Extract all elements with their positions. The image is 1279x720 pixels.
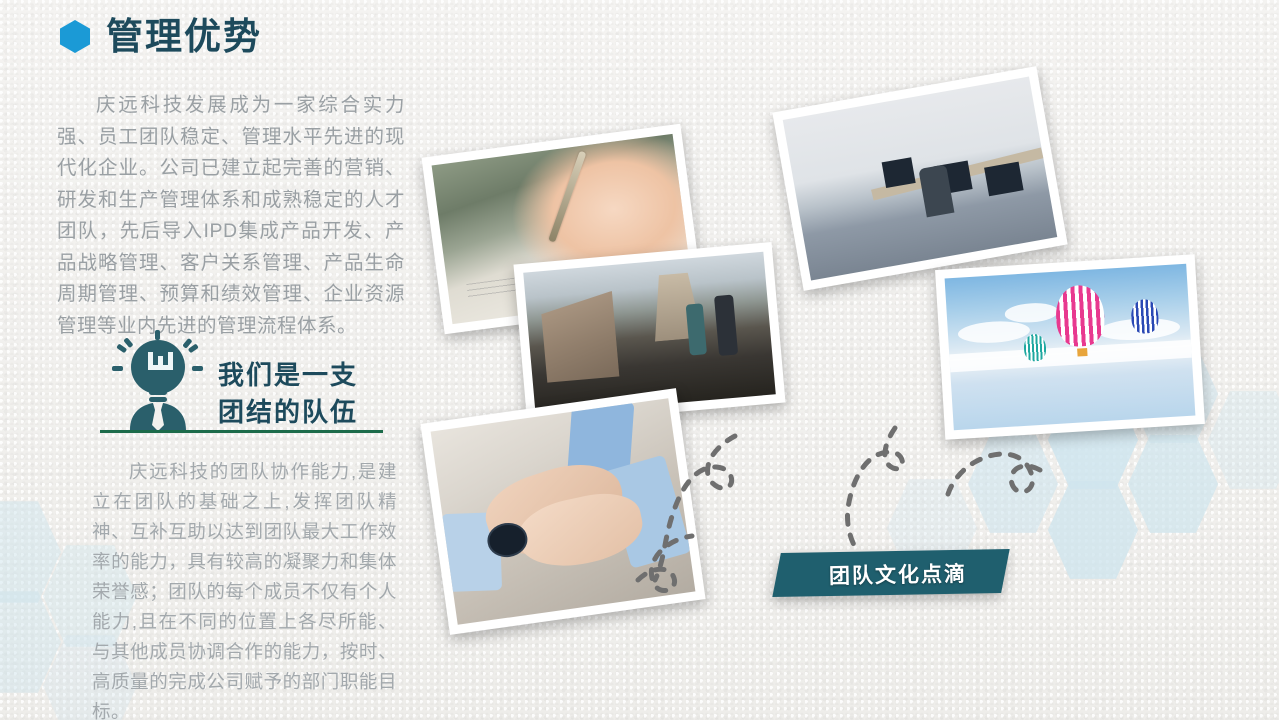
hexagon-shape <box>967 432 1059 536</box>
decor-shape <box>686 303 707 356</box>
culture-banner-label: 团队文化点滴 <box>793 557 1003 591</box>
photo-team-hands-image <box>431 398 696 625</box>
team-heading-line1: 我们是一支 <box>218 357 358 394</box>
decor-shape <box>1004 302 1058 323</box>
heading-underline <box>100 430 383 433</box>
decor-shape <box>882 157 916 188</box>
lightbulb-head-person-icon <box>106 330 210 430</box>
photo-computer-lab[interactable] <box>772 66 1067 291</box>
slide-canvas: 管理优势 庆远科技发展成为一家综合实力强、员工团队稳定、管理水平先进的现代化企业… <box>0 0 1279 720</box>
decor-shape <box>714 295 738 356</box>
hexagon-shape <box>1127 432 1219 536</box>
hexagon-bullet-icon <box>60 20 90 53</box>
photo-hot-air-balloons-image <box>945 264 1196 430</box>
decor-shape <box>957 319 1031 345</box>
hexagon-shape <box>0 588 62 696</box>
hexagon-shape <box>1207 388 1279 492</box>
photo-team-hands[interactable] <box>420 388 705 635</box>
photo-computer-lab-image <box>783 77 1058 281</box>
team-heading-block: 我们是一支 团结的队伍 <box>100 330 390 440</box>
hexagon-shape <box>1047 478 1139 582</box>
team-heading: 我们是一支 团结的队伍 <box>218 357 358 431</box>
page-header: 管理优势 <box>60 18 262 55</box>
photo-hot-air-balloons[interactable] <box>935 254 1205 440</box>
intro-paragraph: 庆远科技发展成为一家综合实力强、员工团队稳定、管理水平先进的现代化企业。公司已建… <box>57 90 405 343</box>
hexagon-shape <box>0 498 62 606</box>
decor-shape <box>984 161 1024 196</box>
decor-shape <box>540 291 619 383</box>
team-heading-line2: 团结的队伍 <box>218 394 358 431</box>
page-title: 管理优势 <box>106 18 262 55</box>
decor-shape <box>1054 284 1106 348</box>
dashed-curve-right <box>847 428 902 552</box>
team-paragraph: 庆远科技的团队协作能力,是建立在团队的基础之上,发挥团队精神、互补互助以达到团队… <box>92 457 397 720</box>
decor-shape <box>1130 299 1159 334</box>
decor-shape <box>1023 333 1046 362</box>
dashed-loop-hexagon <box>948 454 1040 494</box>
